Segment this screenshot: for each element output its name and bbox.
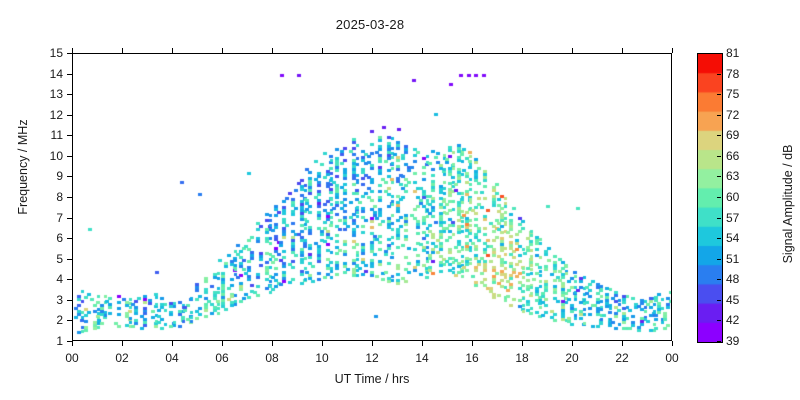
colorbar-tick-mark	[717, 115, 721, 116]
x-tick-mark	[372, 341, 373, 346]
x-tick-label: 14	[402, 352, 442, 364]
page-title: 2025-03-28	[0, 17, 740, 32]
colorbar-tick-mark	[717, 176, 721, 177]
x-tick-label: 22	[602, 352, 642, 364]
x-tick-mark-top	[422, 48, 423, 53]
colorbar-tick-mark	[717, 218, 721, 219]
x-tick-label: 20	[552, 352, 592, 364]
x-tick-label: 18	[502, 352, 542, 364]
colorbar-tick-label: 51	[726, 253, 752, 265]
y-tick-mark	[67, 74, 72, 75]
y-tick-label: 14	[23, 68, 63, 80]
x-tick-mark	[472, 341, 473, 346]
colorbar-tick-mark	[717, 53, 721, 54]
x-tick-mark-top	[672, 48, 673, 53]
y-tick-label: 2	[23, 314, 63, 326]
x-tick-label: 16	[452, 352, 492, 364]
colorbar-tick-label: 42	[726, 314, 752, 326]
x-tick-mark	[672, 341, 673, 346]
colorbar-tick-mark	[717, 74, 721, 75]
y-tick-mark	[67, 218, 72, 219]
x-tick-mark	[522, 341, 523, 346]
x-tick-mark	[222, 341, 223, 346]
y-tick-mark	[67, 197, 72, 198]
y-tick-mark	[67, 176, 72, 177]
colorbar-tick-label: 39	[726, 335, 752, 347]
colorbar-label: Signal Amplitude / dB	[781, 119, 795, 289]
y-axis-label: Frequency / MHz	[16, 97, 30, 237]
colorbar-tick-label: 45	[726, 294, 752, 306]
y-tick-mark	[67, 115, 72, 116]
colorbar-tick-mark	[717, 341, 721, 342]
y-tick-label: 5	[23, 253, 63, 265]
x-tick-label: 08	[252, 352, 292, 364]
x-tick-mark-top	[122, 48, 123, 53]
ionogram-figure: 2025-03-28 123456789101112131415 0002040…	[0, 0, 800, 400]
y-tick-label: 15	[23, 47, 63, 59]
x-tick-mark	[422, 341, 423, 346]
y-tick-mark	[67, 135, 72, 136]
x-tick-label: 06	[202, 352, 242, 364]
colorbar-tick-label: 75	[726, 88, 752, 100]
colorbar-tick-label: 63	[726, 170, 752, 182]
colorbar-tick-mark	[717, 238, 721, 239]
x-tick-mark-top	[472, 48, 473, 53]
x-tick-label: 12	[352, 352, 392, 364]
x-tick-label: 02	[102, 352, 142, 364]
x-tick-mark	[622, 341, 623, 346]
colorbar-tick-label: 66	[726, 150, 752, 162]
colorbar-tick-mark	[717, 259, 721, 260]
x-tick-mark	[272, 341, 273, 346]
colorbar-tick-label: 69	[726, 129, 752, 141]
x-tick-mark-top	[622, 48, 623, 53]
x-tick-mark-top	[322, 48, 323, 53]
y-tick-label: 4	[23, 273, 63, 285]
colorbar-tick-label: 78	[726, 68, 752, 80]
colorbar-tick-mark	[717, 300, 721, 301]
y-tick-mark	[67, 238, 72, 239]
x-tick-mark	[572, 341, 573, 346]
y-tick-mark	[67, 259, 72, 260]
x-tick-mark-top	[522, 48, 523, 53]
y-tick-mark	[67, 156, 72, 157]
colorbar-tick-mark	[717, 135, 721, 136]
y-tick-mark	[67, 320, 72, 321]
colorbar-tick-mark	[717, 279, 721, 280]
colorbar-tick-label: 72	[726, 109, 752, 121]
colorbar-tick-label: 60	[726, 191, 752, 203]
colorbar-tick-mark	[717, 197, 721, 198]
x-tick-mark-top	[222, 48, 223, 53]
colorbar-tick-mark	[717, 94, 721, 95]
y-tick-label: 3	[23, 294, 63, 306]
x-tick-label: 00	[52, 352, 92, 364]
x-tick-mark-top	[72, 48, 73, 53]
x-tick-mark-top	[272, 48, 273, 53]
x-tick-label: 04	[152, 352, 192, 364]
x-tick-label: 10	[302, 352, 342, 364]
colorbar-tick-label: 57	[726, 212, 752, 224]
x-tick-mark	[72, 341, 73, 346]
x-tick-mark-top	[572, 48, 573, 53]
colorbar-tick-mark	[717, 320, 721, 321]
heatmap-canvas	[73, 54, 671, 340]
y-tick-mark	[67, 279, 72, 280]
colorbar-tick-label: 48	[726, 273, 752, 285]
colorbar-tick-label: 81	[726, 47, 752, 59]
x-tick-mark-top	[372, 48, 373, 53]
colorbar-tick-mark	[717, 156, 721, 157]
y-tick-label: 1	[23, 335, 63, 347]
x-tick-mark-top	[172, 48, 173, 53]
x-tick-mark	[322, 341, 323, 346]
x-axis-label: UT Time / hrs	[72, 372, 672, 386]
colorbar-tick-label: 54	[726, 232, 752, 244]
x-tick-mark	[172, 341, 173, 346]
y-tick-mark	[67, 94, 72, 95]
y-tick-mark	[67, 53, 72, 54]
y-tick-mark	[67, 300, 72, 301]
x-tick-label: 00	[652, 352, 692, 364]
plot-area	[72, 53, 672, 341]
x-tick-mark	[122, 341, 123, 346]
